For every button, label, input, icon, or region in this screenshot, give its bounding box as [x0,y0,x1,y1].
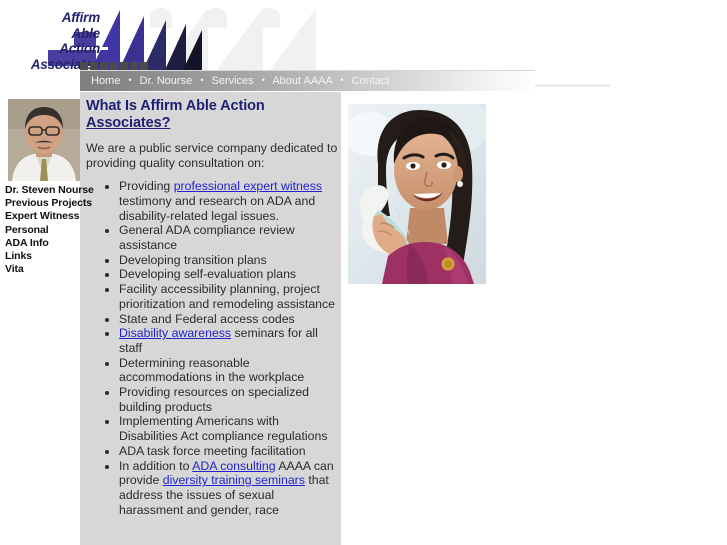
intro-paragraph: We are a public service company dedicate… [86,141,338,170]
service-list-item: Disability awareness seminars for all st… [119,326,338,355]
nav-separator: • [195,75,208,85]
services-list: Providing professional expert witness te… [86,179,338,517]
service-list-item: Facility accessibility planning, project… [119,282,338,311]
nav-separator: • [123,75,136,85]
phone-call-photo-icon [348,104,486,284]
service-text: Developing transition plans [119,253,267,267]
inline-link[interactable]: Disability awareness [119,326,231,340]
logo-chevron-icon [182,30,202,72]
inline-link[interactable]: professional expert witness [174,179,322,193]
nav-tab-square [130,62,138,70]
inline-link[interactable]: ADA consulting [192,459,275,473]
nav-tab-squares [80,62,150,70]
service-list-item: Developing self-evaluation plans [119,267,338,282]
service-text: General ADA compliance review assistance [119,223,295,252]
service-list-item: State and Federal access codes [119,312,338,327]
sidebar-item-links[interactable]: Links [5,250,85,263]
inline-link[interactable]: diversity training seminars [163,473,305,487]
page-title-line-1: What Is Affirm Able Action [86,98,338,115]
sidebar-item-dr-steven-nourse[interactable]: Dr. Steven Nourse [5,184,85,197]
nav-item-home[interactable]: Home [91,75,120,87]
service-text: Developing self-evaluation plans [119,267,296,281]
sidebar-links: Dr. Steven Nourse Previous Projects Expe… [5,184,85,276]
service-text: Determining reasonable accommodations in… [119,356,304,385]
page-title-line-2[interactable]: Associates? [86,115,338,132]
nav-items: Home • Dr. Nourse • Services • About AAA… [91,74,389,88]
logo-word-3: Action [14,41,100,57]
watermark-chevron-cap [258,8,280,28]
service-text: Providing [119,179,174,193]
watermark-chevron-cap [205,8,227,28]
service-text: ADA task force meeting facilitation [119,444,306,458]
sidebar-item-ada-info[interactable]: ADA Info [5,237,85,250]
service-list-item: Developing transition plans [119,253,338,268]
nav-tab-square [80,62,88,70]
site-header: Affirm Able Action Associates Home • Dr.… [0,0,727,92]
portrait-photo-icon [8,99,80,181]
sidebar-item-previous-projects[interactable]: Previous Projects [5,197,85,210]
service-list-item: ADA task force meeting facilitation [119,444,338,459]
page-root: Affirm Able Action Associates Home • Dr.… [0,0,727,545]
service-text: State and Federal access codes [119,312,295,326]
service-list-item: Providing professional expert witness te… [119,179,338,223]
service-text: Implementing Americans with Disabilities… [119,414,327,443]
nav-tab-square [100,62,108,70]
service-list-item: General ADA compliance review assistance [119,223,338,252]
nav-tab-square [140,62,148,70]
content-inner: What Is Affirm Able Action Associates? W… [86,98,338,517]
nav-item-services[interactable]: Services [211,75,253,87]
service-text: Providing resources on specialized build… [119,385,309,414]
nav-separator: • [335,75,348,85]
page-title: What Is Affirm Able Action Associates? [86,98,338,132]
nav-item-contact[interactable]: Contact [352,75,390,87]
nav-item-about-aaaa[interactable]: About AAAA [272,75,332,87]
content-panel: What Is Affirm Able Action Associates? W… [80,92,341,545]
sidebar-item-expert-witness[interactable]: Expert Witness [5,210,85,223]
nav-separator: • [257,75,270,85]
nav-tab-square [110,62,118,70]
sidebar-item-vita[interactable]: Vita [5,263,85,276]
logo-word-2: Able [14,26,100,42]
service-text: Facility accessibility planning, project… [119,282,335,311]
sidebar-item-personal[interactable]: Personal [5,224,85,237]
service-text: In addition to [119,459,192,473]
service-list-item: Determining reasonable accommodations in… [119,356,338,385]
service-list-item: Providing resources on specialized build… [119,385,338,414]
dr-nourse-portrait [8,99,80,181]
main-navigation: Home • Dr. Nourse • Services • About AAA… [80,70,535,91]
woman-on-phone-photo [348,104,486,284]
service-list-item: Implementing Americans with Disabilities… [119,414,338,443]
service-text: testimony and research on ADA and disabi… [119,194,315,223]
nav-item-dr-nourse[interactable]: Dr. Nourse [140,75,193,87]
logo-word-1: Affirm [14,10,100,26]
nav-tab-square [90,62,98,70]
service-list-item: In addition to ADA consulting AAAA can p… [119,459,338,518]
nav-tab-square [120,62,128,70]
